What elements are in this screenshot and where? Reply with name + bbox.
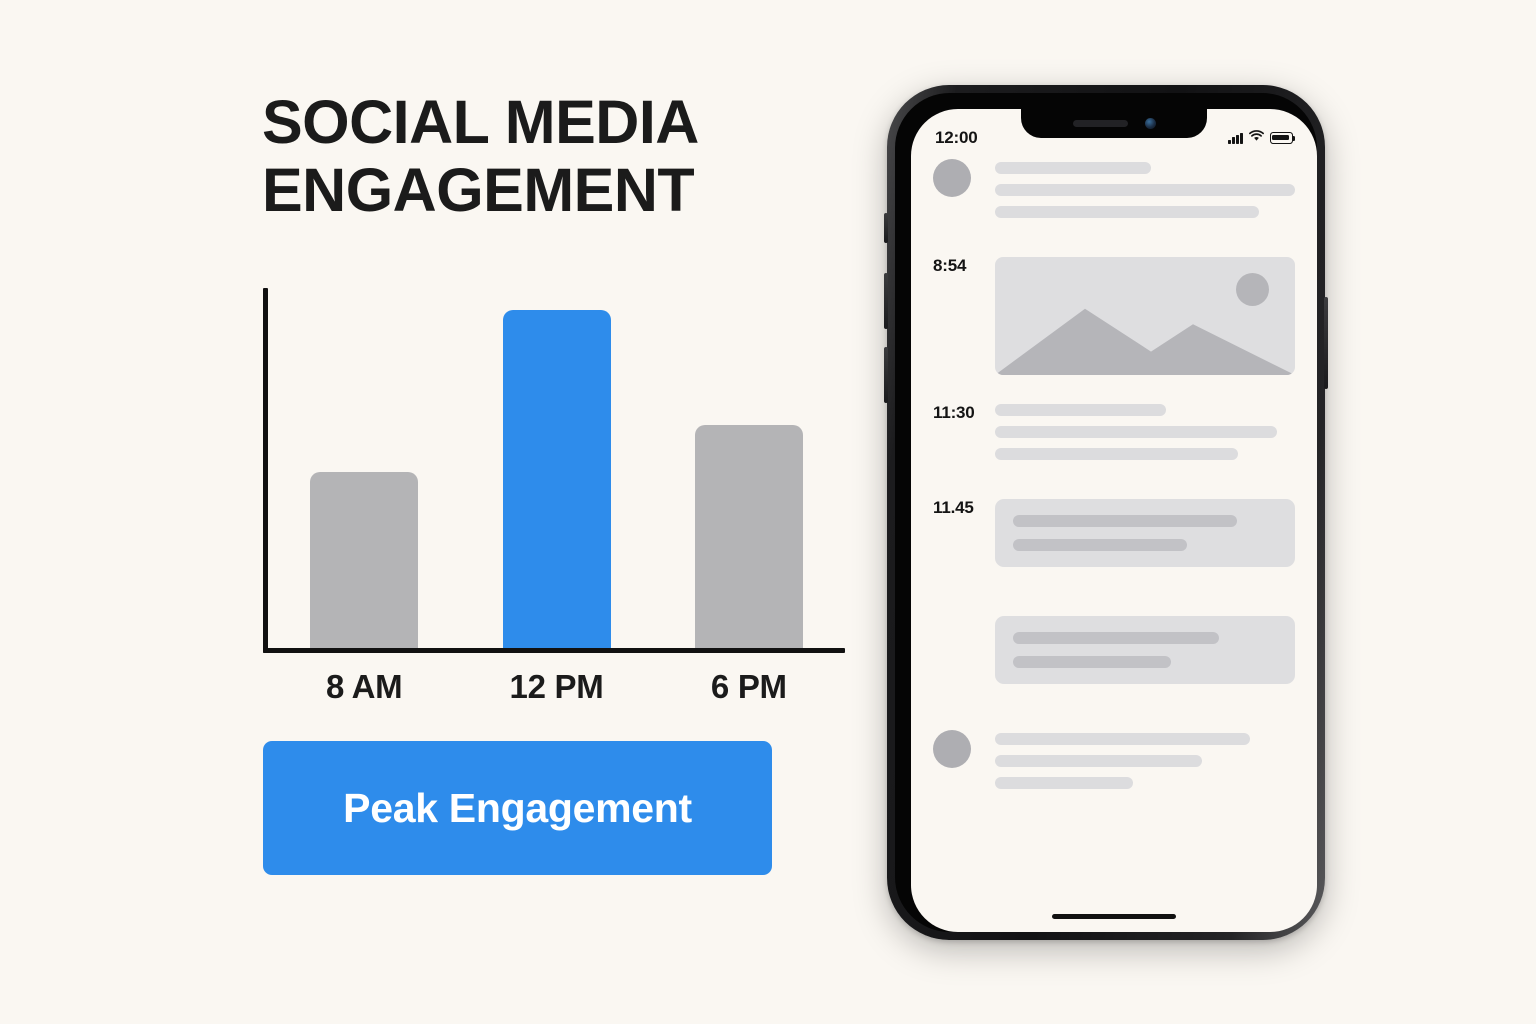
feed-item[interactable]: [933, 159, 1295, 228]
skeleton-feed: 8:5411:3011.45: [911, 159, 1317, 879]
mute-switch-button[interactable]: [884, 213, 888, 243]
feed-item[interactable]: [933, 730, 1295, 799]
avatar-icon: [933, 730, 971, 768]
skeleton-line: [995, 777, 1133, 789]
skeleton-line: [995, 448, 1238, 460]
status-bar-icons: [1228, 129, 1293, 147]
feed-item-body: [995, 159, 1295, 228]
skeleton-line: [1013, 515, 1237, 527]
skeleton-line: [995, 404, 1166, 416]
status-bar-time: 12:00: [935, 128, 977, 148]
phone-screen: 12:00 8:5411:3011.45: [911, 109, 1317, 932]
home-indicator[interactable]: [1052, 914, 1176, 919]
bar-8-am[interactable]: [310, 472, 418, 648]
volume-down-button[interactable]: [884, 347, 888, 403]
skeleton-line: [1013, 632, 1219, 644]
chart-plot-area: [268, 288, 845, 648]
power-button[interactable]: [1324, 297, 1328, 389]
x-axis-line: [263, 648, 845, 653]
peak-engagement-button[interactable]: Peak Engagement: [263, 741, 772, 875]
feed-item-body: [995, 496, 1295, 587]
skeleton-line: [1013, 539, 1187, 551]
feed-timestamp: 11:30: [933, 401, 995, 423]
feed-item[interactable]: 11.45: [933, 496, 1295, 587]
skeleton-line: [995, 162, 1151, 174]
feed-timestamp: 11.45: [933, 496, 995, 518]
bar-12-pm[interactable]: [503, 310, 611, 648]
volume-up-button[interactable]: [884, 273, 888, 329]
skeleton-line: [995, 733, 1250, 745]
skeleton-line: [995, 755, 1202, 767]
avatar-slot: [933, 730, 995, 768]
x-tick-label: 8 AM: [268, 668, 460, 706]
bar-6-pm[interactable]: [695, 425, 803, 648]
infographic-left-panel: SOCIAL MEDIA ENGAGEMENT 8 AM12 PM6 PM Pe…: [0, 0, 870, 1024]
feed-item[interactable]: 8:54: [933, 254, 1295, 375]
feed-timestamp: 8:54: [933, 254, 995, 276]
image-placeholder-icon: [995, 257, 1295, 375]
feed-card[interactable]: [995, 616, 1295, 684]
skeleton-line: [995, 206, 1259, 218]
bar-chart: 8 AM12 PM6 PM: [255, 288, 845, 728]
battery-icon: [1270, 132, 1293, 144]
smartphone-mockup: 12:00 8:5411:3011.45: [887, 85, 1325, 940]
status-bar: 12:00: [911, 109, 1317, 155]
feed-item-body: [995, 401, 1295, 470]
skeleton-line: [995, 426, 1277, 438]
skeleton-line: [1013, 656, 1171, 668]
x-axis-tick-labels: 8 AM12 PM6 PM: [268, 668, 845, 716]
avatar-slot: [933, 159, 995, 197]
x-tick-label: 6 PM: [653, 668, 845, 706]
page-title: SOCIAL MEDIA ENGAGEMENT: [262, 88, 822, 225]
avatar-icon: [933, 159, 971, 197]
x-tick-label: 12 PM: [460, 668, 652, 706]
feed-card[interactable]: [995, 499, 1295, 567]
feed-item-body: [995, 254, 1295, 375]
wifi-icon: [1249, 129, 1264, 147]
feed-item-body: [995, 730, 1295, 799]
phone-bezel: 12:00 8:5411:3011.45: [895, 93, 1317, 932]
feed-item-body: [995, 613, 1295, 704]
feed-timestamp: [933, 613, 995, 615]
skeleton-line: [995, 184, 1295, 196]
feed-item[interactable]: [933, 613, 1295, 704]
cellular-signal-icon: [1228, 133, 1243, 144]
feed-item[interactable]: 11:30: [933, 401, 1295, 470]
